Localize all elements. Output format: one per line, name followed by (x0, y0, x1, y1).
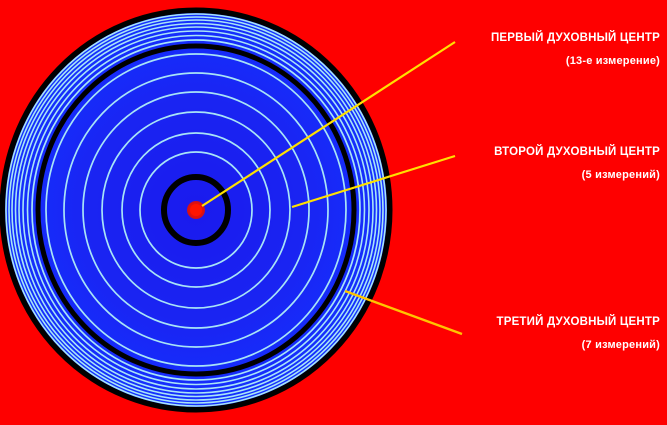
label-third-spiritual-center: ТРЕТИЙ ДУХОВНЫЙ ЦЕНТР (7 измерений) (395, 315, 660, 352)
label-first-subtitle: (13-е измерение) (395, 54, 660, 68)
diagram-canvas: ПЕРВЫЙ ДУХОВНЫЙ ЦЕНТР (13-е измерение) В… (0, 0, 667, 425)
label-first-title: ПЕРВЫЙ ДУХОВНЫЙ ЦЕНТР (395, 31, 660, 45)
label-second-spiritual-center: ВТОРОЙ ДУХОВНЫЙ ЦЕНТР (5 измерений) (395, 145, 660, 182)
label-third-subtitle: (7 измерений) (395, 338, 660, 352)
label-second-subtitle: (5 измерений) (395, 168, 660, 182)
label-third-title: ТРЕТИЙ ДУХОВНЫЙ ЦЕНТР (395, 315, 660, 329)
label-second-title: ВТОРОЙ ДУХОВНЫЙ ЦЕНТР (395, 145, 660, 159)
label-first-spiritual-center: ПЕРВЫЙ ДУХОВНЫЙ ЦЕНТР (13-е измерение) (395, 31, 660, 68)
center-red-dot-core (190, 204, 202, 216)
